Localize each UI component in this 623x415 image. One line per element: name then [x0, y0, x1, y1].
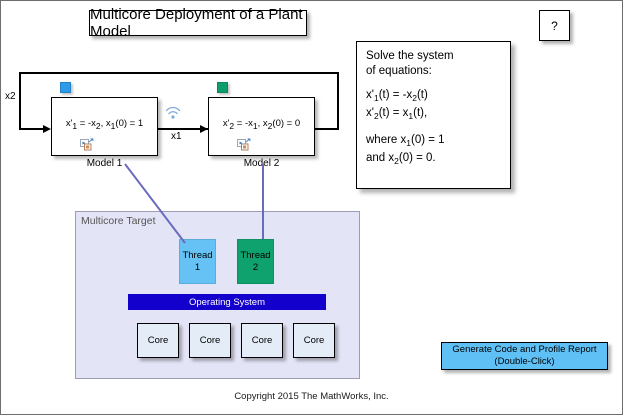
annotation-initial-condition-1: where x1(0) = 1 — [366, 133, 510, 151]
thread2-number: 2 — [253, 262, 258, 274]
thread1-number: 1 — [195, 262, 200, 274]
where-pre: where x — [366, 134, 406, 146]
multicore-target-label: Multicore Target — [81, 215, 156, 227]
signal-wireless-icon — [165, 106, 181, 120]
m2-eq-post: (0) = 0 — [272, 118, 300, 129]
simulink-model-canvas[interactable]: Multicore Deployment of a Plant Model ? … — [0, 0, 623, 415]
annotation-initial-condition-2: and x2(0) = 0. — [366, 151, 510, 169]
m1-eq-mid: = -x — [77, 118, 96, 129]
model1-caption: Model 1 — [51, 158, 158, 169]
eq2-post: (t), — [413, 107, 427, 119]
core-box[interactable]: Core — [241, 323, 283, 358]
thread2-name: Thread — [240, 250, 270, 262]
thread1-name: Thread — [182, 250, 212, 262]
model-reference-block-2[interactable]: x'2 = -x1, x2(0) = 0 — [208, 97, 315, 156]
thread-box-1[interactable]: Thread 1 — [179, 239, 216, 284]
m1-eq-mid2: , x — [101, 118, 111, 129]
feedback-wire-bottom-right — [313, 128, 339, 130]
model-reference-block-1[interactable]: x'1 = -x2, x1(0) = 1 — [51, 97, 158, 156]
core-row: Core Core Core Core — [137, 323, 335, 358]
model1-equation-text: x'1 = -x2, x1(0) = 1 — [52, 118, 157, 131]
eq1-mid: (t) = -x — [379, 89, 413, 101]
core-label: Core — [148, 335, 169, 346]
generate-code-and-profile-report-button[interactable]: Generate Code and Profile Report (Double… — [441, 342, 608, 370]
operating-system-bar: Operating System — [128, 294, 326, 310]
core-box[interactable]: Core — [293, 323, 335, 358]
core-box[interactable]: Core — [137, 323, 179, 358]
model2-equation-text: x'2 = -x1, x2(0) = 0 — [209, 118, 314, 131]
feedback-wire-input — [19, 128, 43, 130]
core-label: Core — [252, 335, 273, 346]
generate-button-line2: (Double-Click) — [494, 356, 554, 368]
m2-eq-mid2: , x — [258, 118, 268, 129]
operating-system-label: Operating System — [189, 297, 265, 308]
m2-eq-mid: = -x — [234, 118, 253, 129]
annotation-line-1: Solve the system — [366, 49, 510, 64]
signal-label-x1: x1 — [171, 131, 182, 142]
help-button[interactable]: ? — [539, 10, 570, 41]
core-label: Core — [200, 335, 221, 346]
feedback-wire-left — [19, 72, 21, 129]
model-reference-icon — [237, 138, 252, 151]
model-title-block[interactable]: Multicore Deployment of a Plant Model — [89, 10, 307, 36]
arrow-head-icon — [200, 125, 208, 133]
task-color-square-model2 — [217, 82, 228, 93]
model-reference-icon — [80, 138, 95, 151]
eq2-mid: (t) = x — [379, 107, 409, 119]
annotation-equation-2: x'2(t) = x1(t), — [366, 106, 510, 124]
feedback-wire-top — [19, 72, 338, 74]
m1-eq-post: (0) = 1 — [115, 118, 143, 129]
eq1-post: (t) — [417, 89, 428, 101]
question-mark-icon: ? — [551, 19, 558, 33]
generate-button-line1: Generate Code and Profile Report — [452, 344, 596, 356]
signal-label-x2: x2 — [5, 91, 16, 102]
task-color-square-model1 — [60, 82, 71, 93]
copyright-text: Copyright 2015 The MathWorks, Inc. — [1, 391, 622, 402]
annotation-equation-1: x'1(t) = -x2(t) — [366, 88, 510, 106]
feedback-wire-right — [337, 72, 339, 129]
where-post: (0) = 1 — [411, 134, 445, 146]
thread-box-2[interactable]: Thread 2 — [237, 239, 274, 284]
equations-annotation-block: Solve the system of equations: x'1(t) = … — [356, 41, 511, 189]
annotation-line-2: of equations: — [366, 64, 510, 79]
eq1-pre: x' — [366, 89, 374, 101]
core-label: Core — [304, 335, 325, 346]
and-pre: and x — [366, 152, 394, 164]
arrow-head-icon — [43, 125, 51, 133]
model-title-text: Multicore Deployment of a Plant Model — [90, 6, 306, 40]
eq2-pre: x' — [366, 107, 374, 119]
model2-caption: Model 2 — [208, 158, 315, 169]
core-box[interactable]: Core — [189, 323, 231, 358]
and-post: (0) = 0. — [399, 152, 436, 164]
